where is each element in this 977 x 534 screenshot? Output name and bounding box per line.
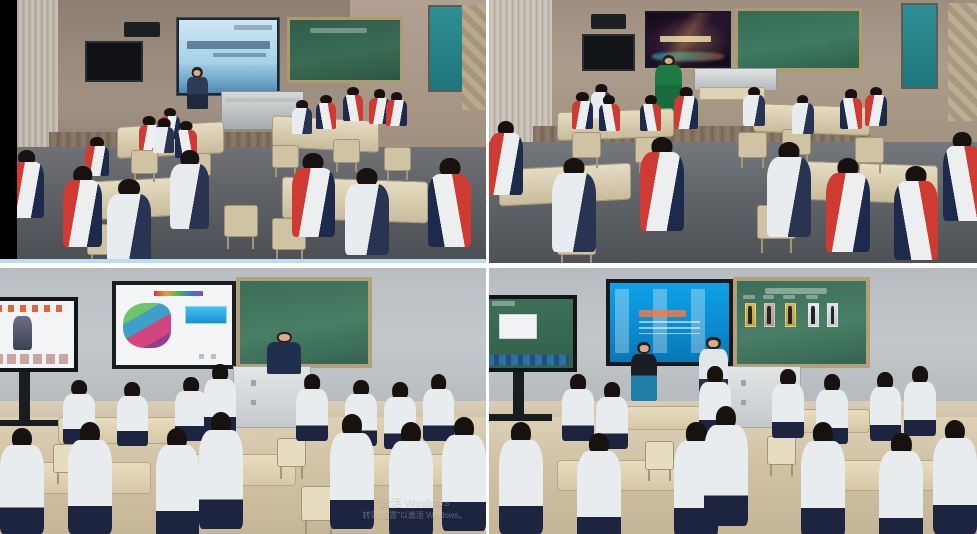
student-body [792,103,814,134]
student [330,414,374,528]
student-body [674,96,697,129]
student [772,369,804,438]
panel-top-right[interactable] [489,0,977,263]
student [879,433,923,534]
student [292,153,336,237]
student-body [63,180,102,247]
student-body [296,389,328,441]
diamond-acoustic-wall [948,3,977,121]
stool [767,436,796,465]
student-body [153,127,174,152]
side-monitor-swatch-strip [0,354,69,365]
chair [333,139,360,163]
student-body [640,104,661,132]
teacher-body [267,342,301,374]
chair [572,132,601,158]
diamond-acoustic-wall [462,5,486,110]
teacher-figure-left [631,342,658,401]
scene-top-right [489,0,977,263]
student-body [933,438,977,534]
student [153,118,174,152]
student-body [170,164,209,229]
stool [277,438,306,467]
info-card [185,306,227,324]
side-monitor-toolbar [0,305,67,312]
student [68,422,112,534]
student [389,422,433,534]
student [865,87,887,126]
student [640,95,661,132]
student [599,95,620,132]
student [640,137,684,232]
scene-top-left [0,0,486,263]
student-body [801,441,845,534]
student-body [156,445,200,534]
blackboard [735,8,862,71]
screen-title [187,41,269,50]
chair [224,205,258,237]
monitor-stand-base [489,414,552,421]
side-monitor[interactable] [489,295,577,372]
student-body [572,101,593,129]
student-body [772,384,804,438]
panel-bottom-right[interactable] [489,268,977,534]
student [870,372,902,441]
side-monitor-document [499,314,537,339]
student [199,412,243,529]
student-body [386,100,406,126]
panel-accent-strip [0,259,486,263]
student [345,168,389,255]
whiteboard-title-bar [154,291,203,297]
student [170,150,209,229]
student [743,87,765,126]
student [767,142,811,237]
student [577,433,621,534]
student [296,374,328,441]
student [107,179,151,263]
ceiling-projector-icon [591,14,625,28]
monitor-stand-pole [19,372,30,425]
student [63,166,102,248]
teacher-body [631,354,658,401]
photo-grid: 激活 Windows 转到“设置”以激活 Windows。 [0,0,977,534]
student-body [330,433,374,529]
student [316,95,336,129]
monitor-stand-pole [513,372,524,420]
student-body [292,168,336,237]
student [933,420,977,534]
student-body [840,98,862,129]
ceiling-projector-icon [124,22,160,36]
scene-bottom-left: 激活 Windows 转到“设置”以激活 Windows。 [0,268,486,534]
wall-monitor [582,34,636,71]
student [826,158,870,253]
wall-monitor [85,41,143,82]
color-wheel-graphic [123,303,172,348]
student-body [577,451,621,534]
blackboard-group-label [806,295,818,299]
student [943,132,977,221]
teacher-figure [267,332,301,375]
teacher-body [187,77,207,109]
student-body [0,445,44,534]
blackboard-title-text [765,288,827,295]
student [704,406,748,526]
student-body [865,95,887,126]
student-body [894,181,938,261]
whiteboard-body-text [639,321,701,334]
student-body [292,108,312,134]
chair [738,132,767,158]
student [489,121,523,195]
teacher-face [664,58,673,65]
costume-poster [745,303,756,328]
student-body [640,152,684,232]
student [792,95,814,134]
student [801,422,845,534]
screen-header-note [234,25,271,30]
student [572,92,593,129]
screen-title [660,36,710,42]
blackboard-group-label [783,295,795,299]
student-body [904,382,936,436]
teacher-face [279,334,289,341]
monitor-stand-base [0,420,58,427]
student-body [343,95,363,121]
blackboard-group-label [743,295,755,299]
student-body [442,435,486,531]
blackboard [733,277,870,367]
side-monitor[interactable] [0,297,78,371]
student-body [489,133,523,195]
teacher-face [640,345,649,352]
whiteboard-title [639,310,687,317]
teacher-figure [187,67,207,109]
blackboard [287,17,404,83]
panel-top-left[interactable] [0,0,486,263]
student-body [68,440,112,534]
student [499,422,543,534]
student-body [826,173,870,253]
student [428,158,472,247]
interactive-whiteboard[interactable] [112,281,236,369]
teal-door[interactable] [901,3,938,90]
letterbox-bar-left [0,0,17,263]
side-monitor-garment-figure [13,316,32,351]
student-body [767,157,811,237]
costume-poster [785,303,796,328]
side-monitor-titlebar [492,301,515,306]
student-body [117,396,149,446]
panel-bottom-left[interactable]: 激活 Windows 转到“设置”以激活 Windows。 [0,268,486,534]
student [156,428,200,534]
student [552,158,596,253]
student [343,87,363,121]
teal-door[interactable] [428,5,464,92]
blackboard-chalk-text [310,28,368,33]
blackboard [236,277,372,367]
student-body [704,425,748,526]
student-body [389,441,433,534]
chair [131,150,158,174]
student-body [428,174,472,247]
student [386,92,406,126]
student [904,366,936,435]
scene-bottom-right [489,268,977,534]
student [292,100,312,134]
side-monitor-toolbar[interactable] [489,355,569,365]
student-body [316,103,336,129]
student [117,382,149,446]
student-body [107,194,151,263]
costume-poster [764,303,775,328]
student [674,87,697,129]
student-body [599,104,620,132]
blackboard-group-label [763,295,775,299]
student [894,166,938,261]
student-body [879,451,923,534]
student [0,428,44,534]
student [840,89,862,128]
costume-poster [827,303,838,328]
costume-poster [808,303,819,328]
student-body [345,184,389,255]
pagination-dots[interactable] [199,354,220,359]
student-body [943,146,977,221]
stool [645,441,674,470]
student-body [743,95,765,126]
student-body [499,440,543,534]
student [562,374,594,441]
student-body [199,430,243,528]
screen-subtitle [213,53,266,57]
student-body [552,173,596,253]
student [442,417,486,531]
